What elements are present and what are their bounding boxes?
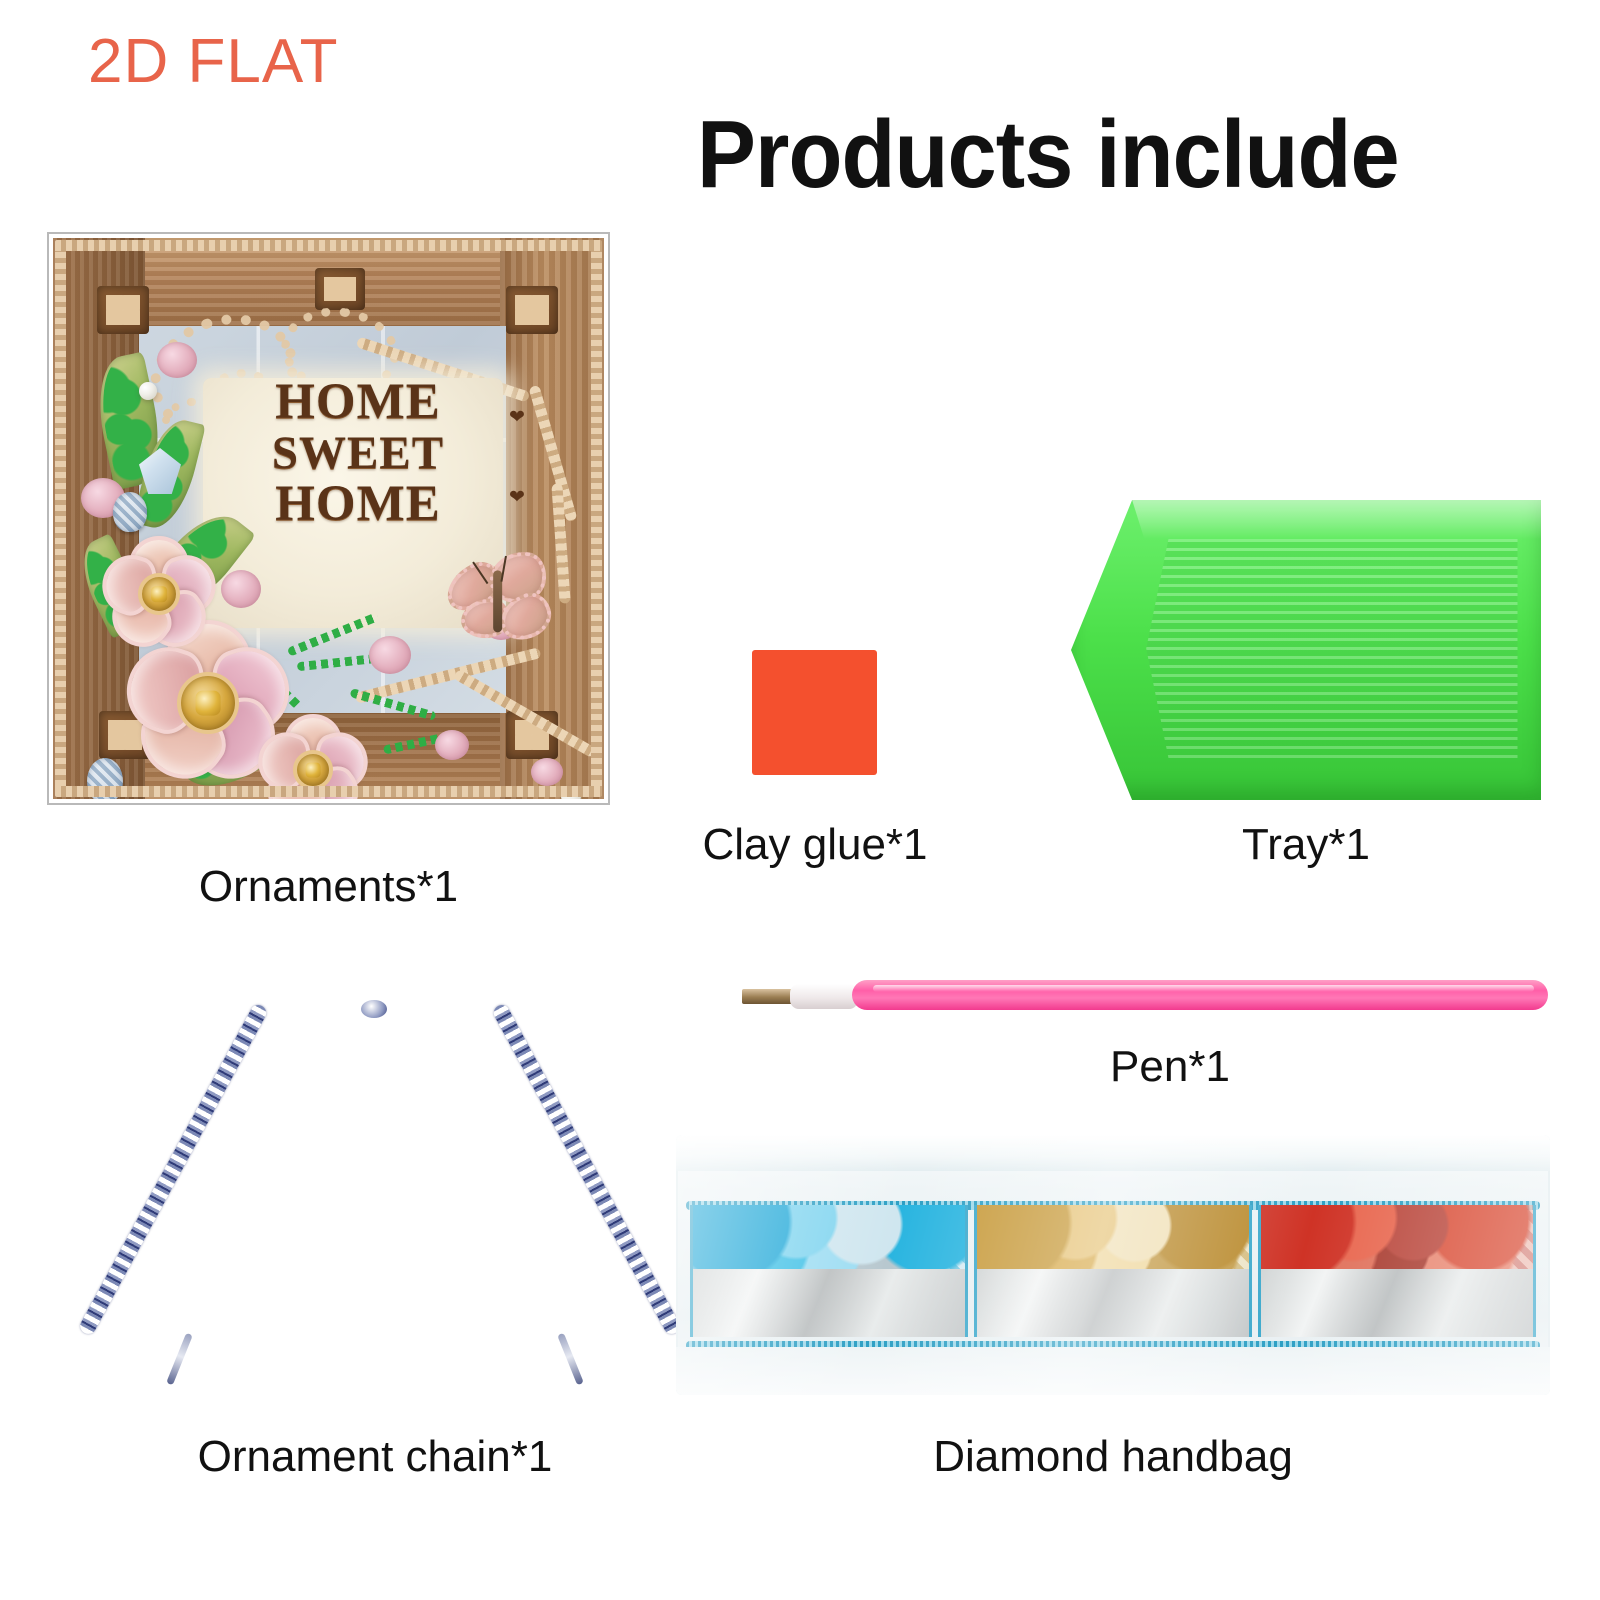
gem-blue-1 bbox=[113, 492, 147, 532]
diamond-handbag-label: Diamond handbag bbox=[676, 1432, 1550, 1482]
chain-arm-left bbox=[77, 1002, 269, 1337]
pen-metal-tip bbox=[742, 989, 794, 1004]
foil-packet-3 bbox=[1261, 1269, 1533, 1337]
clay-glue-label: Clay glue*1 bbox=[665, 820, 965, 870]
corner-stud-topleft bbox=[97, 286, 149, 334]
tray-rim-highlight bbox=[1132, 500, 1541, 539]
ornament-chain-image bbox=[160, 1000, 590, 1390]
chain-end-pin-left bbox=[166, 1333, 193, 1386]
clay-glue-image bbox=[752, 650, 877, 775]
sign-text: HOME SWEET HOME bbox=[203, 376, 513, 531]
flower-lower-right bbox=[249, 706, 377, 799]
foil-packet-1 bbox=[693, 1269, 965, 1337]
chain-arm-right bbox=[491, 1002, 683, 1337]
handbag-compartment-blue bbox=[690, 1205, 968, 1337]
sign-line-3: HOME bbox=[203, 478, 513, 531]
small-bloom-4 bbox=[369, 636, 411, 674]
product-include-sheet: 2D FLAT Products include bbox=[0, 0, 1600, 1600]
ornaments-label: Ornaments*1 bbox=[47, 862, 610, 912]
badge-2d-flat: 2D FLAT bbox=[88, 26, 338, 97]
sign-line-2: SWEET bbox=[203, 429, 513, 478]
drills-red bbox=[1261, 1205, 1533, 1269]
flower-center-gem bbox=[293, 750, 333, 790]
drills-gold bbox=[977, 1205, 1249, 1269]
butterfly-top bbox=[439, 547, 561, 653]
flower-center-gem bbox=[177, 672, 239, 734]
heart-icon-2: ❤ bbox=[509, 486, 525, 509]
drills-blue bbox=[693, 1205, 965, 1269]
chain-apex-link bbox=[361, 1000, 387, 1018]
diamond-handbag-image bbox=[676, 1135, 1550, 1395]
tray-grooves bbox=[1146, 539, 1517, 758]
chain-end-pin-right bbox=[557, 1333, 584, 1386]
corner-stud-topright bbox=[506, 286, 558, 334]
small-bloom-2 bbox=[157, 342, 197, 378]
small-bloom-6 bbox=[435, 730, 469, 760]
ornaments-image: HOME SWEET HOME ❤ ❤ bbox=[47, 232, 610, 805]
flower-upper-left bbox=[93, 528, 225, 660]
pen-image bbox=[742, 978, 1548, 1012]
corner-stud-topcenter bbox=[315, 268, 365, 310]
pen-ferrule bbox=[790, 984, 858, 1009]
flower-center-gem bbox=[138, 573, 180, 615]
gem-blue-2 bbox=[87, 758, 123, 799]
handbag-compartment-red bbox=[1258, 1205, 1536, 1337]
pearl-small-1 bbox=[139, 382, 157, 400]
pearl-small-2 bbox=[561, 786, 581, 799]
pen-barrel bbox=[852, 980, 1548, 1010]
handbag-compartment-gold bbox=[974, 1205, 1252, 1337]
handbag-top-seal bbox=[676, 1135, 1550, 1171]
tray-label: Tray*1 bbox=[1056, 820, 1556, 870]
handbag-bottom-seal bbox=[676, 1347, 1550, 1395]
artwork-canvas: HOME SWEET HOME ❤ ❤ bbox=[53, 238, 604, 799]
small-bloom-7 bbox=[531, 758, 563, 786]
ornament-chain-label: Ornament chain*1 bbox=[90, 1432, 660, 1482]
sign-line-1: HOME bbox=[203, 376, 513, 429]
small-bloom-3 bbox=[221, 570, 261, 608]
heart-icon-1: ❤ bbox=[509, 406, 525, 429]
tray-image bbox=[1071, 500, 1541, 800]
foil-packet-2 bbox=[977, 1269, 1249, 1337]
pen-label: Pen*1 bbox=[940, 1042, 1400, 1092]
page-title: Products include bbox=[697, 100, 1399, 210]
